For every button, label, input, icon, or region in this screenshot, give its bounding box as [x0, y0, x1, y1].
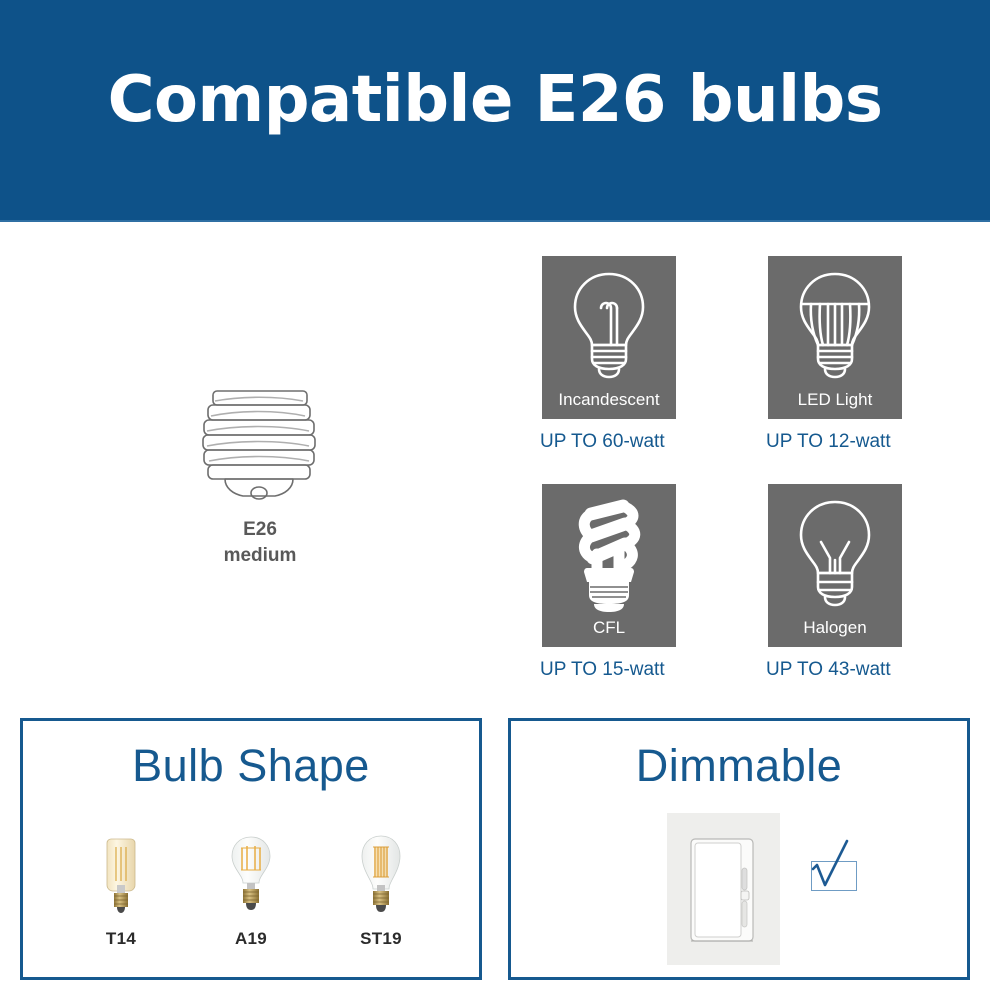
a19-standard-bulb-icon	[207, 833, 295, 921]
led-bulb-icon	[787, 266, 883, 387]
bulb-shape-panel: Bulb Shape	[20, 718, 482, 980]
dimmable-title: Dimmable	[511, 743, 967, 788]
bulb-shape-label: A19	[207, 929, 295, 949]
e26-screw-base-icon	[195, 487, 325, 504]
bulb-type-tile: Halogen	[768, 484, 902, 647]
dimmer-switch-photo	[667, 813, 780, 965]
st19-edison-bulb-icon	[337, 833, 425, 921]
dimmable-panel: Dimmable	[508, 718, 970, 980]
dimmable-checkbox[interactable]	[811, 861, 857, 891]
bulb-type-card-led[interactable]: LED Light UP TO 12-watt	[762, 256, 942, 453]
bulb-shape-row: T14	[23, 833, 479, 949]
bulb-type-watt: UP TO 15-watt	[540, 659, 720, 681]
e26-base-block: E26 medium	[150, 385, 370, 568]
bulb-type-tile: Incandescent	[542, 256, 676, 419]
bulb-shape-item-t14[interactable]: T14	[77, 833, 165, 949]
incandescent-bulb-icon	[561, 266, 657, 387]
infographic-page: Compatible E26 bulbs E26 medium	[0, 0, 990, 990]
bulb-type-name: Halogen	[768, 618, 902, 638]
bulb-type-watt: UP TO 12-watt	[766, 431, 942, 453]
bulb-shape-item-a19[interactable]: A19	[207, 833, 295, 949]
bulb-shape-label: T14	[77, 929, 165, 949]
bulb-type-watt: UP TO 60-watt	[540, 431, 720, 453]
bulb-shape-label: ST19	[337, 929, 425, 949]
bulb-type-tile: LED Light	[768, 256, 902, 419]
halogen-bulb-icon	[787, 494, 883, 615]
bulb-shape-item-st19[interactable]: ST19	[337, 833, 425, 949]
bulb-type-name: CFL	[542, 618, 676, 638]
e26-base-caption: E26 medium	[150, 517, 370, 568]
bulb-type-card-cfl[interactable]: CFL UP TO 15-watt	[540, 484, 720, 681]
bulb-type-card-halogen[interactable]: Halogen UP TO 43-watt	[762, 484, 942, 681]
t14-tubular-bulb-icon	[77, 833, 165, 921]
page-header: Compatible E26 bulbs	[0, 0, 990, 222]
bulb-type-card-incandescent[interactable]: Incandescent UP TO 60-watt	[540, 256, 720, 453]
bulb-type-name: LED Light	[768, 390, 902, 410]
cfl-bulb-icon	[561, 494, 657, 623]
bulb-type-name: Incandescent	[542, 390, 676, 410]
bulb-shape-title: Bulb Shape	[23, 743, 479, 788]
bulb-type-watt: UP TO 43-watt	[766, 659, 942, 681]
bulb-type-tile: CFL	[542, 484, 676, 647]
page-title: Compatible E26 bulbs	[0, 68, 990, 132]
